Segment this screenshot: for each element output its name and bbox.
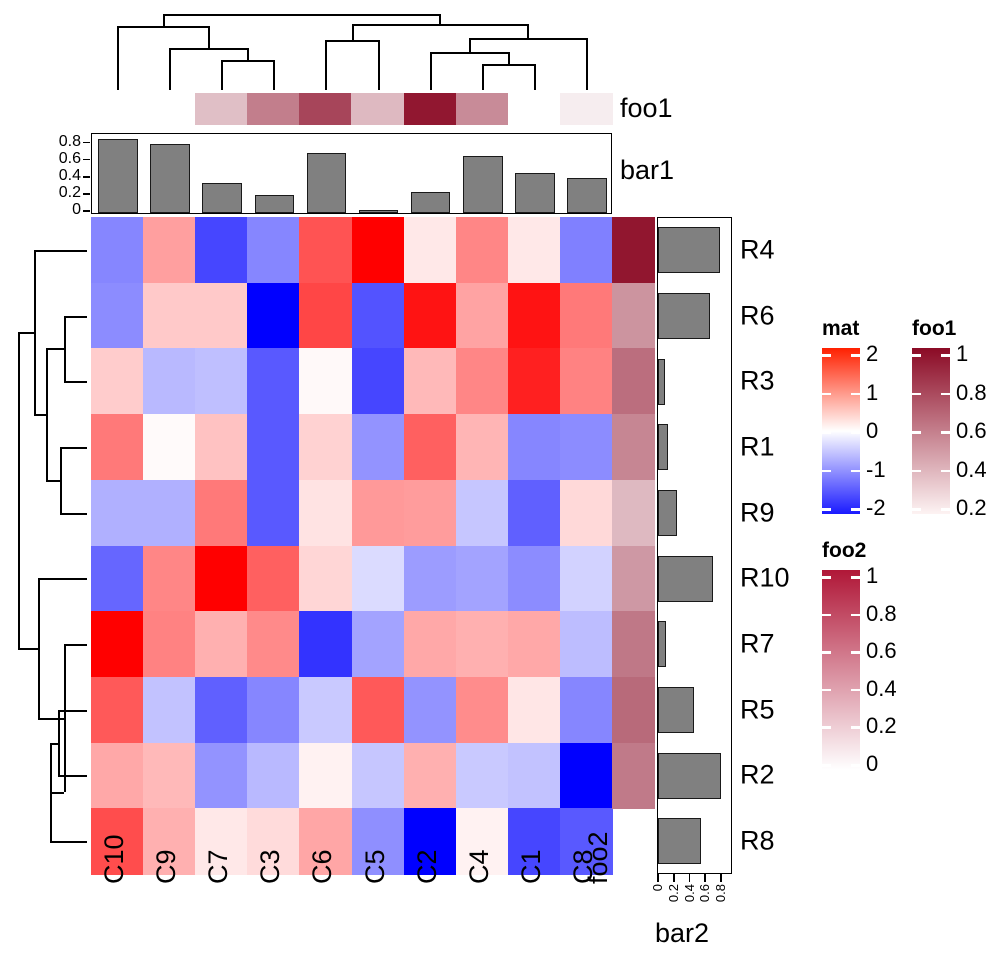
foo1-annotation-cell <box>404 93 457 125</box>
dendrogram-branch <box>378 40 380 90</box>
heatmap-cell[interactable] <box>560 546 613 612</box>
foo2-annotation-cell <box>612 283 655 349</box>
legend-tick <box>851 470 860 473</box>
bar2-tick-label: 0.8 <box>714 884 727 902</box>
heatmap-cell[interactable] <box>247 217 300 283</box>
dendrogram-branch <box>325 40 327 90</box>
legend-tick-label: 0 <box>866 753 878 775</box>
legend-tick <box>851 431 860 434</box>
dendrogram-branch <box>60 447 62 513</box>
foo2-annotation-cell <box>612 348 655 414</box>
foo1-annotation-cell <box>560 93 613 125</box>
row-label: R7 <box>740 631 775 658</box>
heatmap-cell[interactable] <box>195 546 248 612</box>
bar2-bar <box>658 753 721 799</box>
heatmap-cell[interactable] <box>299 677 352 743</box>
legend-tick-label: 0.2 <box>866 715 897 737</box>
heatmap-cell[interactable] <box>247 283 300 349</box>
dendrogram-branch <box>34 250 36 414</box>
heatmap-cell[interactable] <box>91 743 144 809</box>
legend-tick-label: -2 <box>866 497 886 519</box>
heatmap-cell[interactable] <box>456 217 509 283</box>
heatmap-cell[interactable] <box>456 283 509 349</box>
heatmap-cell[interactable] <box>508 283 561 349</box>
heatmap-cell[interactable] <box>352 743 405 809</box>
dendrogram-branch <box>34 250 87 252</box>
heatmap-cell[interactable] <box>560 283 613 349</box>
heatmap-cell[interactable] <box>91 348 144 414</box>
dendrogram-branch <box>64 316 66 382</box>
heatmap-cell[interactable] <box>352 480 405 546</box>
legend-tick <box>822 354 831 357</box>
bar1-tick <box>83 142 90 144</box>
heatmap-cell[interactable] <box>456 677 509 743</box>
bar1-tick-label: 0.2 <box>59 185 81 201</box>
annotation-label-bar2: bar2 <box>655 920 709 947</box>
legend-tick <box>822 689 831 692</box>
column-barplot-bar1 <box>91 133 612 214</box>
foo1-annotation-cell <box>508 93 561 125</box>
legend-tick <box>822 576 831 579</box>
dendrogram-branch <box>247 48 249 60</box>
heatmap-cell[interactable] <box>143 348 196 414</box>
bar2-bar <box>658 490 677 536</box>
heatmap-cell[interactable] <box>352 348 405 414</box>
heatmap-cell[interactable] <box>352 611 405 677</box>
legend-tick <box>941 508 950 511</box>
row-annotation-foo2 <box>612 217 655 874</box>
dendrogram-branch <box>18 332 20 648</box>
legend-tick <box>851 614 860 617</box>
dendrogram-branch <box>58 710 87 712</box>
bar2-bar <box>658 621 666 667</box>
heatmap-cell[interactable] <box>352 217 405 283</box>
bar2-bar <box>658 687 694 733</box>
legend-tick-label: 0.4 <box>956 459 987 481</box>
bar1-tick-label: 0 <box>72 202 81 218</box>
heatmap-cell[interactable] <box>560 611 613 677</box>
heatmap-cell[interactable] <box>195 743 248 809</box>
legend-title-mat: mat <box>822 318 859 339</box>
heatmap-cell[interactable] <box>299 283 352 349</box>
legend-tick-label: 0.8 <box>956 382 987 404</box>
dendrogram-branch <box>534 64 536 90</box>
legend-tick <box>851 764 860 767</box>
legend-tick <box>822 764 831 767</box>
bar1-bar <box>255 195 295 213</box>
heatmap-cell[interactable] <box>456 480 509 546</box>
heatmap-cell[interactable] <box>508 546 561 612</box>
legend-gradient-mat <box>822 348 860 514</box>
dendrogram-branch <box>221 60 273 62</box>
bar2-tick <box>657 874 659 882</box>
foo2-annotation-cell <box>612 546 655 612</box>
dendrogram-branch <box>508 52 510 64</box>
column-label: C5 <box>362 849 389 884</box>
dendrogram-branch <box>527 24 529 38</box>
row-label: R10 <box>740 565 790 592</box>
heatmap-cell[interactable] <box>247 414 300 480</box>
legend-tick <box>851 354 860 357</box>
heatmap-cell[interactable] <box>91 546 144 612</box>
heatmap-cell[interactable] <box>247 677 300 743</box>
legend-tick <box>912 431 921 434</box>
dendrogram-branch <box>273 60 275 90</box>
bar1-bar <box>307 153 347 213</box>
heatmap-cell[interactable] <box>143 480 196 546</box>
heatmap-cell[interactable] <box>560 217 613 283</box>
row-label: R6 <box>740 302 775 329</box>
column-label: C1 <box>518 849 545 884</box>
heatmap-cell[interactable] <box>247 480 300 546</box>
legend-title-foo1: foo1 <box>912 318 956 339</box>
legend-title-foo2: foo2 <box>822 540 866 561</box>
heatmap-cell[interactable] <box>404 348 457 414</box>
row-label: R4 <box>740 236 775 263</box>
heatmap-cell[interactable] <box>195 414 248 480</box>
dendrogram-branch <box>58 775 87 777</box>
heatmap-cell[interactable] <box>508 480 561 546</box>
row-label: R5 <box>740 696 775 723</box>
heatmap-cell[interactable] <box>195 283 248 349</box>
dendrogram-branch <box>50 792 64 794</box>
dendrogram-branch <box>64 644 87 646</box>
legend-tick <box>851 508 860 511</box>
legend-tick <box>912 470 921 473</box>
main-heatmap[interactable] <box>91 217 612 874</box>
dendrogram-branch <box>430 52 508 54</box>
bar1-bar <box>411 192 451 213</box>
heatmap-cell[interactable] <box>195 611 248 677</box>
heatmap-cell[interactable] <box>456 546 509 612</box>
bar1-bar <box>98 139 138 213</box>
heatmap-cell[interactable] <box>299 480 352 546</box>
legend-tick-label: -1 <box>866 459 886 481</box>
bar1-tick-label: 0.4 <box>59 168 81 184</box>
heatmap-cell[interactable] <box>560 480 613 546</box>
legend-tick-label: 0.8 <box>866 603 897 625</box>
legend-tick <box>851 726 860 729</box>
row-barplot-bar2 <box>657 217 732 874</box>
dendrogram-branch <box>482 64 484 90</box>
foo1-annotation-cell <box>195 93 248 125</box>
row-label: R3 <box>740 368 775 395</box>
bar2-bar <box>658 424 668 470</box>
bar1-y-axis: 00.20.40.60.8 <box>40 128 90 218</box>
foo1-annotation-cell <box>247 93 300 125</box>
heatmap-cell[interactable] <box>456 611 509 677</box>
dendrogram-branch <box>64 316 87 318</box>
heatmap-cell[interactable] <box>404 283 457 349</box>
heatmap-cell[interactable] <box>299 217 352 283</box>
heatmap-cell[interactable] <box>456 414 509 480</box>
dendrogram-branch <box>325 40 377 42</box>
dendrogram-branch <box>352 24 354 40</box>
legend-tick-label: 2 <box>866 343 878 365</box>
dendrogram-branch <box>117 26 208 28</box>
heatmap-cell[interactable] <box>91 677 144 743</box>
dendrogram-branch <box>64 644 66 792</box>
row-dendrogram <box>8 217 88 874</box>
legend-tick <box>912 393 921 396</box>
heatmap-cell[interactable] <box>91 283 144 349</box>
heatmap-cell[interactable] <box>352 677 405 743</box>
bar1-bar <box>150 144 190 213</box>
heatmap-cell[interactable] <box>91 217 144 283</box>
heatmap-cell[interactable] <box>404 480 457 546</box>
heatmap-cell[interactable] <box>404 217 457 283</box>
column-dendrogram <box>91 8 612 90</box>
bar2-tick-label: 0.2 <box>667 884 680 902</box>
heatmap-cell[interactable] <box>143 283 196 349</box>
bar1-tick <box>83 176 90 178</box>
heatmap-cell[interactable] <box>299 611 352 677</box>
heatmap-cell[interactable] <box>195 217 248 283</box>
heatmap-cell[interactable] <box>508 677 561 743</box>
heatmap-cell[interactable] <box>195 677 248 743</box>
bar1-bar <box>359 210 399 213</box>
bar2-tick <box>689 874 691 882</box>
legend-tick <box>822 614 831 617</box>
bar2-tick-label: 0.4 <box>683 884 696 902</box>
dendrogram-branch <box>60 447 87 449</box>
dendrogram-branch <box>46 348 64 350</box>
heatmap-cell[interactable] <box>247 546 300 612</box>
heatmap-cell[interactable] <box>560 414 613 480</box>
heatmap-cell[interactable] <box>299 743 352 809</box>
legend-tick-label: 0.6 <box>956 420 987 442</box>
column-label: C6 <box>309 849 336 884</box>
legend-tick <box>822 393 831 396</box>
legend-tick-label: 0.2 <box>956 497 987 519</box>
dendrogram-branch <box>18 332 34 334</box>
dendrogram-branch <box>34 414 46 416</box>
heatmap-cell[interactable] <box>247 611 300 677</box>
heatmap-cell[interactable] <box>508 743 561 809</box>
bar1-bar <box>202 183 242 213</box>
dendrogram-branch <box>38 578 40 718</box>
column-annotation-foo1 <box>195 93 612 125</box>
foo2-annotation-cell <box>612 677 655 743</box>
bar2-bar <box>658 818 701 864</box>
dendrogram-branch <box>50 841 87 843</box>
bar1-tick-label: 0.8 <box>59 134 81 150</box>
heatmap-cell[interactable] <box>508 611 561 677</box>
bar1-tick <box>83 193 90 195</box>
bar2-x-axis: 00.20.40.60.8 <box>652 874 738 886</box>
annotation-label-bar1: bar1 <box>620 157 674 184</box>
dendrogram-branch <box>439 14 441 24</box>
foo1-annotation-cell <box>299 93 352 125</box>
heatmap-cell[interactable] <box>247 348 300 414</box>
legend-tick-label: 1 <box>956 343 968 365</box>
row-label: R8 <box>740 828 775 855</box>
heatmap-cell[interactable] <box>299 414 352 480</box>
heatmap-cell[interactable] <box>508 348 561 414</box>
column-label: C3 <box>257 849 284 884</box>
bar2-bar <box>658 556 713 602</box>
heatmap-cell[interactable] <box>299 546 352 612</box>
heatmap-cell[interactable] <box>404 546 457 612</box>
bar1-tick <box>83 210 90 212</box>
dendrogram-branch <box>38 578 87 580</box>
heatmap-cell[interactable] <box>352 283 405 349</box>
dendrogram-branch <box>169 48 247 50</box>
dendrogram-branch <box>586 38 588 90</box>
legend-tick <box>822 651 831 654</box>
dendrogram-branch <box>38 718 64 720</box>
column-label: C7 <box>205 849 232 884</box>
heatmap-cell[interactable] <box>404 414 457 480</box>
foo1-annotation-cell <box>351 93 404 125</box>
legend-tick <box>851 689 860 692</box>
dendrogram-branch <box>208 26 210 48</box>
heatmap-cell[interactable] <box>91 611 144 677</box>
heatmap-cell[interactable] <box>195 348 248 414</box>
foo1-annotation-cell <box>456 93 509 125</box>
dendrogram-branch <box>169 48 171 90</box>
heatmap-cell[interactable] <box>143 677 196 743</box>
bar2-tick-label: 0 <box>651 884 664 891</box>
legend-tick <box>822 508 831 511</box>
bar1-tick <box>83 159 90 161</box>
heatmap-cell[interactable] <box>352 546 405 612</box>
heatmap-cell[interactable] <box>560 743 613 809</box>
foo2-annotation-cell <box>612 743 655 809</box>
heatmap-cell[interactable] <box>404 743 457 809</box>
column-label: C9 <box>153 849 180 884</box>
bar1-bar <box>567 178 607 213</box>
dendrogram-branch <box>163 14 440 16</box>
heatmap-cell[interactable] <box>247 743 300 809</box>
legend-tick <box>912 508 921 511</box>
bar2-bar <box>658 359 665 405</box>
dendrogram-branch <box>117 26 119 90</box>
legend-tick <box>941 354 950 357</box>
legend-tick-label: 0 <box>866 420 878 442</box>
foo2-annotation-cell <box>612 217 655 283</box>
bar2-tick-label: 0.6 <box>698 884 711 902</box>
bar2-tick <box>673 874 675 882</box>
bar1-bar <box>515 173 555 213</box>
dendrogram-branch <box>46 348 48 479</box>
bar2-tick <box>704 874 706 882</box>
legend-tick <box>822 470 831 473</box>
dendrogram-branch <box>430 52 432 90</box>
dendrogram-branch <box>221 60 223 90</box>
legend-tick <box>851 651 860 654</box>
foo2-annotation-cell <box>612 480 655 546</box>
heatmap-cell[interactable] <box>91 480 144 546</box>
foo2-annotation-cell <box>612 611 655 677</box>
dendrogram-branch <box>469 38 586 40</box>
heatmap-cell[interactable] <box>91 414 144 480</box>
column-label: C8 <box>570 849 597 884</box>
annotation-label-foo1: foo1 <box>620 95 673 122</box>
row-label: R9 <box>740 499 775 526</box>
legend-tick <box>941 470 950 473</box>
legend-tick <box>822 726 831 729</box>
foo2-annotation-cell <box>612 414 655 480</box>
dendrogram-branch <box>18 648 38 650</box>
heatmap-cell[interactable] <box>299 348 352 414</box>
heatmap-cell[interactable] <box>143 546 196 612</box>
heatmap-cell[interactable] <box>456 743 509 809</box>
bar1-bar <box>463 156 503 213</box>
heatmap-cell[interactable] <box>143 217 196 283</box>
dendrogram-branch <box>60 513 87 515</box>
legend-tick <box>822 431 831 434</box>
dendrogram-branch <box>352 24 528 26</box>
legend-tick <box>851 576 860 579</box>
legend-gradient-foo2 <box>822 570 860 770</box>
legend-tick <box>941 393 950 396</box>
column-label: C4 <box>466 849 493 884</box>
column-label: C2 <box>414 849 441 884</box>
legend-tick-label: 0.6 <box>866 640 897 662</box>
dendrogram-branch <box>64 381 87 383</box>
dendrogram-branch <box>469 38 471 52</box>
dendrogram-branch <box>46 480 60 482</box>
legend-tick-label: 1 <box>866 382 878 404</box>
row-label: R2 <box>740 762 775 789</box>
legend-tick <box>912 354 921 357</box>
heatmap-cell[interactable] <box>143 611 196 677</box>
bar2-bar <box>658 227 720 273</box>
heatmap-cell[interactable] <box>508 217 561 283</box>
heatmap-cell[interactable] <box>404 677 457 743</box>
legend-tick-label: 1 <box>866 565 878 587</box>
legend-tick <box>851 393 860 396</box>
bar2-tick <box>720 874 722 882</box>
dendrogram-branch <box>482 64 534 66</box>
bar2-bar <box>658 293 710 339</box>
heatmap-cell[interactable] <box>143 414 196 480</box>
legend-tick-label: 0.4 <box>866 678 897 700</box>
heatmap-cell[interactable] <box>195 480 248 546</box>
heatmap-cell[interactable] <box>560 348 613 414</box>
row-label: R1 <box>740 433 775 460</box>
column-label: C10 <box>101 834 128 884</box>
heatmap-cell[interactable] <box>456 348 509 414</box>
bar1-tick-label: 0.6 <box>59 151 81 167</box>
legend-tick <box>941 431 950 434</box>
heatmap-cell[interactable] <box>560 677 613 743</box>
heatmap-cell[interactable] <box>404 611 457 677</box>
heatmap-cell[interactable] <box>143 743 196 809</box>
legend-gradient-foo1 <box>912 348 950 514</box>
heatmap-cell[interactable] <box>508 414 561 480</box>
heatmap-cell[interactable] <box>352 414 405 480</box>
